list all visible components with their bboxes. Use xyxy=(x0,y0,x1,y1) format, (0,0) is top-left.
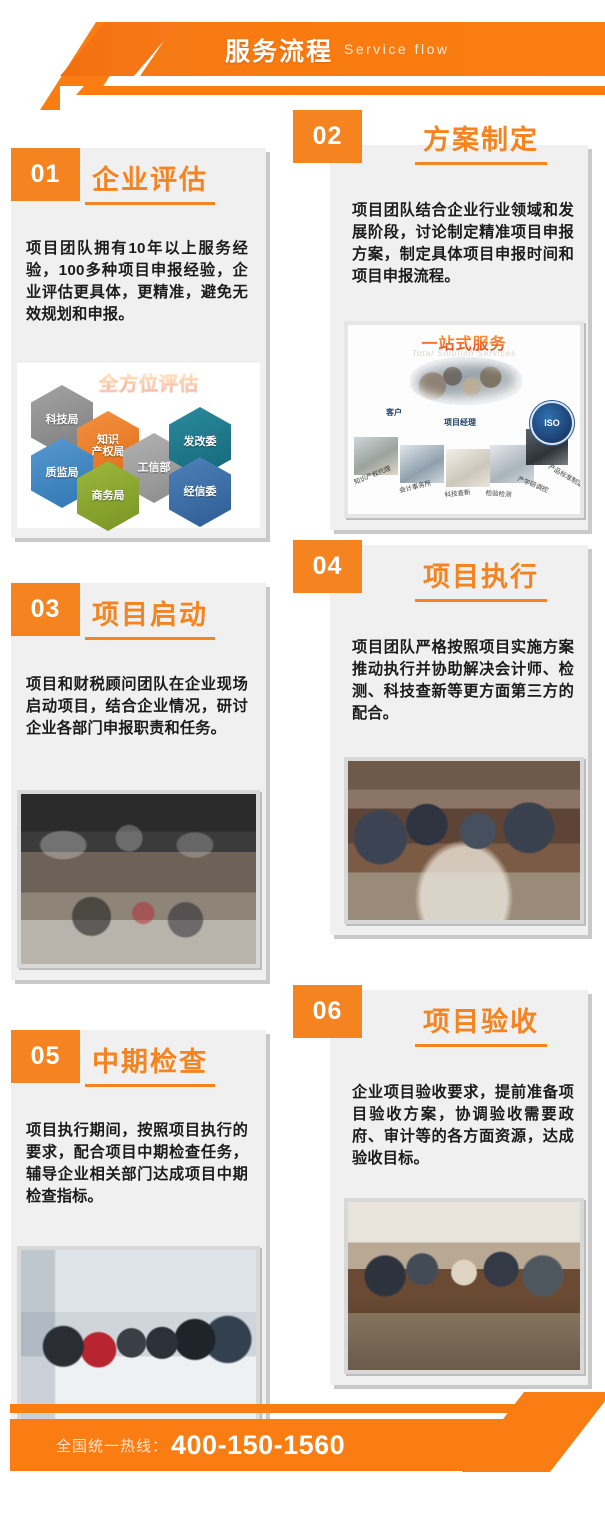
photo-meeting-table xyxy=(348,761,580,920)
step-body-02: 项目团队结合企业行业领域和发展阶段，讨论制定精准项目申报方案，制定具体项目申报时… xyxy=(352,200,574,288)
step-body-06: 企业项目验收要求，提前准备项目验收方案，协调验收需要政府、审计等的各方面资源，达… xyxy=(352,1082,574,1170)
step-title-05: 中期检查 xyxy=(92,1040,208,1079)
collage-label-standard: 产品标准制定 xyxy=(547,461,580,489)
step-title-rule-02 xyxy=(415,162,547,165)
assessment-hex-diagram: 全方位评估 科技局 知识 产权局 质监局 工信部 商务局 发改委 经信委 xyxy=(17,363,260,528)
page-footer: 全国统一热线： 400-150-1560 xyxy=(0,1392,605,1538)
one-stop-service-illustration: 一站式服务 Total Solution Services 客户 项目经理 知识… xyxy=(344,321,584,518)
step-title-06: 项目验收 xyxy=(423,1000,539,1039)
hex-node-label: 工信部 xyxy=(138,462,171,474)
step-title-group-05: 中期检查 xyxy=(85,1040,215,1087)
step-title-rule-01 xyxy=(85,202,215,205)
step-title-group-06: 项目验收 xyxy=(415,1000,547,1047)
step-number-badge-06: 06 xyxy=(293,985,362,1038)
hex-node-label: 质监局 xyxy=(46,467,79,479)
step-number-badge-03: 03 xyxy=(11,583,80,636)
step-title-rule-05 xyxy=(85,1084,215,1087)
photo-conference-room xyxy=(21,794,256,964)
step-number-badge-05: 05 xyxy=(11,1030,80,1083)
service-flow-poster: 服务流程 Service flow 01 企业评估 项目团队拥有10年以上服务经… xyxy=(0,0,605,1538)
footer-hotline-group: 全国统一热线： 400-150-1560 xyxy=(56,1419,345,1471)
header-underline-stripe xyxy=(150,86,605,95)
page-subtitle: Service flow xyxy=(344,41,449,59)
iso-badge-icon: ISO xyxy=(532,403,572,443)
step-title-04: 项目执行 xyxy=(423,555,539,594)
step-body-03: 项目和财税顾问团队在企业现场启动项目，结合企业情况，研讨企业各部门申报职责和任务… xyxy=(26,674,248,740)
step-photo-03 xyxy=(17,790,260,968)
step-photo-04 xyxy=(344,757,584,924)
hex-diagram-title: 全方位评估 xyxy=(99,369,199,396)
hotline-label: 全国统一热线： xyxy=(56,1435,168,1456)
step-body-04: 项目团队严格按照项目实施方案推动执行并协助解决会计师、检测、科技查新等更方面第三… xyxy=(352,637,574,725)
header-title-group: 服务流程 Service flow xyxy=(225,28,449,72)
collage-label-research: 科技查新 xyxy=(444,486,471,499)
collage-canvas: 一站式服务 Total Solution Services 客户 项目经理 知识… xyxy=(348,325,580,514)
collage-thumb-accounting xyxy=(400,445,444,483)
step-title-03: 项目启动 xyxy=(92,593,208,632)
step-title-rule-04 xyxy=(415,599,547,602)
collage-label-inspection: 检验检测 xyxy=(485,487,512,499)
collage-node-manager: 项目经理 xyxy=(444,417,476,428)
step-number-badge-02: 02 xyxy=(293,110,362,163)
step-title-group-04: 项目执行 xyxy=(415,555,547,602)
step-title-group-03: 项目启动 xyxy=(85,593,215,640)
page-title: 服务流程 xyxy=(225,32,333,68)
page-header: 服务流程 Service flow xyxy=(0,0,605,110)
collage-thumb-research xyxy=(446,449,490,487)
step-title-rule-06 xyxy=(415,1044,547,1047)
step-number-badge-01: 01 xyxy=(11,148,80,201)
hex-node-label: 发改委 xyxy=(184,436,217,448)
hex-node-label: 科技局 xyxy=(46,414,79,426)
step-title-02: 方案制定 xyxy=(423,118,539,157)
photo-boardroom xyxy=(348,1202,580,1370)
step-title-group-01: 企业评估 xyxy=(85,158,215,205)
header-underline-stripe-tail xyxy=(76,86,176,95)
footer-top-stripe xyxy=(10,1404,458,1413)
hotline-number[interactable]: 400-150-1560 xyxy=(171,1430,345,1461)
step-title-01: 企业评估 xyxy=(92,158,208,197)
hex-node-label: 知识 产权局 xyxy=(92,434,125,458)
step-number-badge-04: 04 xyxy=(293,540,362,593)
step-title-rule-03 xyxy=(85,637,215,640)
collage-node-customer: 客户 xyxy=(386,407,402,418)
step-body-05: 项目执行期间，按照项目执行的要求，配合项目中期检查任务，辅导企业相关部门达成项目… xyxy=(26,1120,248,1208)
hex-node-label: 商务局 xyxy=(92,490,125,502)
hex-node-label: 经信委 xyxy=(184,486,217,498)
step-title-group-02: 方案制定 xyxy=(415,118,547,165)
collage-hero-photo xyxy=(410,357,522,405)
step-photo-06 xyxy=(344,1198,584,1374)
step-body-01: 项目团队拥有10年以上服务经验，100多种项目申报经验，企业评估更具体，更精准，… xyxy=(26,238,248,326)
